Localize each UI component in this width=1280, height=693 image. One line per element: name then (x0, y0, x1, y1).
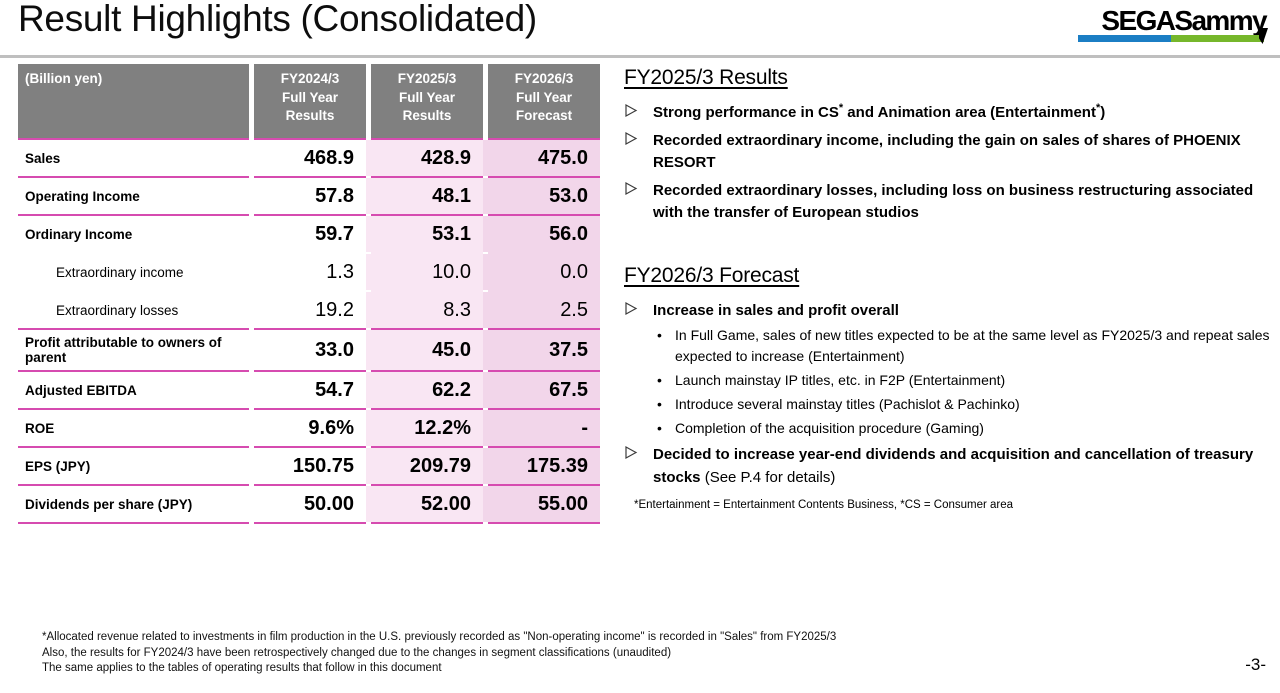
header-col-fy2026-year: FY2026/3 (488, 70, 600, 89)
logo-color-bar (1078, 35, 1264, 42)
separator-line (254, 522, 366, 524)
table-row: Extraordinary income1.310.00.0 (18, 254, 600, 290)
row-value: 37.5 (488, 330, 600, 370)
list-item: Recorded extraordinary income, including… (622, 130, 1270, 175)
forecast-sub-bullet-list: • In Full Game, sales of new titles expe… (653, 325, 1270, 439)
list-item: • Introduce several mainstay titles (Pac… (653, 394, 1270, 415)
forecast-bullet-list: Increase in sales and profit overall • I… (622, 300, 1270, 490)
table-row: Dividends per share (JPY)50.0052.0055.00 (18, 486, 600, 522)
row-value: 175.39 (488, 448, 600, 484)
table-row: ROE9.6%12.2%- (18, 410, 600, 446)
row-label: Dividends per share (JPY) (18, 486, 249, 522)
row-label: Extraordinary losses (18, 292, 249, 328)
footnote-2: Also, the results for FY2024/3 have been… (42, 646, 836, 662)
separator-line (371, 522, 483, 524)
row-value: 45.0 (371, 330, 483, 370)
footnotes: *Allocated revenue related to investment… (42, 630, 836, 677)
section-gap (622, 230, 1270, 264)
footnote-3: The same applies to the tables of operat… (42, 661, 836, 677)
row-value: 1.3 (254, 254, 366, 290)
row-value: 2.5 (488, 292, 600, 328)
header-unit-label: (Billion yen) (18, 64, 249, 138)
list-item: • In Full Game, sales of new titles expe… (653, 325, 1270, 367)
arrow-bullet-icon (624, 301, 639, 316)
table-row: Profit attributable to owners of parent3… (18, 330, 600, 370)
list-item: Strong performance in CS* and Animation … (622, 102, 1270, 125)
table-row: Adjusted EBITDA54.762.267.5 (18, 372, 600, 408)
row-value: 150.75 (254, 448, 366, 484)
forecast-sub-4-text: Completion of the acquisition procedure … (675, 420, 984, 436)
header-col-fy2026-line2: Full Year (488, 89, 600, 108)
page-title: Result Highlights (Consolidated) (18, 0, 537, 40)
row-value: 12.2% (371, 410, 483, 446)
header-col-fy2025-line2: Full Year (371, 89, 483, 108)
list-item: Increase in sales and profit overall • I… (622, 300, 1270, 440)
row-value: 468.9 (254, 140, 366, 176)
row-value: 48.1 (371, 178, 483, 214)
row-value: 209.79 (371, 448, 483, 484)
header-col-fy2024-line3: Results (254, 107, 366, 126)
row-label: ROE (18, 410, 249, 446)
footnote-1: *Allocated revenue related to investment… (42, 630, 836, 646)
title-divider (0, 55, 1280, 58)
sega-sammy-logo: SEGASammy (1066, 8, 1266, 48)
row-label: EPS (JPY) (18, 448, 249, 484)
list-item: • Completion of the acquisition procedur… (653, 418, 1270, 439)
results-section-heading: FY2025/3 Results (624, 66, 1270, 90)
page-number: -3- (1245, 655, 1266, 675)
table-row-separator (18, 522, 600, 524)
table-row: Extraordinary losses19.28.32.5 (18, 292, 600, 328)
row-value: 67.5 (488, 372, 600, 408)
row-label: Profit attributable to owners of parent (18, 330, 249, 370)
header-col-fy2024: FY2024/3 Full Year Results (254, 64, 366, 138)
separator-line (488, 522, 600, 524)
row-label: Adjusted EBITDA (18, 372, 249, 408)
table-header-row: (Billion yen) FY2024/3 Full Year Results… (18, 64, 600, 138)
row-value: 54.7 (254, 372, 366, 408)
row-value: 53.1 (371, 216, 483, 252)
separator-line (18, 522, 249, 524)
forecast-bullet-1-text: Increase in sales and profit overall (653, 302, 899, 319)
arrow-bullet-icon (624, 181, 639, 196)
header-col-fy2026: FY2026/3 Full Year Forecast (488, 64, 600, 138)
row-label: Extraordinary income (18, 254, 249, 290)
header-col-fy2024-line2: Full Year (254, 89, 366, 108)
list-item: Decided to increase year-end dividends a… (622, 444, 1270, 489)
list-item: • Launch mainstay IP titles, etc. in F2P… (653, 370, 1270, 391)
logo-wordmark: SEGASammy (1066, 5, 1266, 37)
row-value: - (488, 410, 600, 446)
arrow-bullet-icon (624, 103, 639, 118)
row-label: Ordinary Income (18, 216, 249, 252)
dot-bullet-icon: • (657, 325, 662, 346)
forecast-sub-3-text: Introduce several mainstay titles (Pachi… (675, 396, 1020, 412)
forecast-sub-2-text: Launch mainstay IP titles, etc. in F2P (… (675, 372, 1005, 388)
row-label: Sales (18, 140, 249, 176)
header-col-fy2025-year: FY2025/3 (371, 70, 483, 89)
forecast-sub-1-text: In Full Game, sales of new titles expect… (675, 327, 1270, 364)
header-col-fy2025: FY2025/3 Full Year Results (371, 64, 483, 138)
highlights-text-panel: FY2025/3 Results Strong performance in C… (622, 66, 1270, 513)
forecast-bullet-2-reference: (See P.4 for details) (705, 469, 836, 486)
table-row: EPS (JPY)150.75209.79175.39 (18, 448, 600, 484)
dot-bullet-icon: • (657, 394, 662, 415)
forecast-section-heading: FY2026/3 Forecast (624, 264, 1270, 288)
row-value: 0.0 (488, 254, 600, 290)
definition-note: *Entertainment = Entertainment Contents … (634, 498, 1270, 513)
row-value: 52.00 (371, 486, 483, 522)
row-value: 59.7 (254, 216, 366, 252)
table-row: Ordinary Income59.753.156.0 (18, 216, 600, 252)
row-value: 55.00 (488, 486, 600, 522)
row-value: 475.0 (488, 140, 600, 176)
row-value: 10.0 (371, 254, 483, 290)
results-bullet-3-text: Recorded extraordinary losses, including… (653, 182, 1253, 222)
row-value: 9.6% (254, 410, 366, 446)
dot-bullet-icon: • (657, 418, 662, 439)
row-value: 56.0 (488, 216, 600, 252)
arrow-bullet-icon (624, 131, 639, 146)
table-row: Operating Income57.848.153.0 (18, 178, 600, 214)
arrow-bullet-icon (624, 445, 639, 460)
results-bullet-list: Strong performance in CS* and Animation … (622, 102, 1270, 225)
row-value: 8.3 (371, 292, 483, 328)
table-row: Sales468.9428.9475.0 (18, 140, 600, 176)
dot-bullet-icon: • (657, 370, 662, 391)
list-item: Recorded extraordinary losses, including… (622, 180, 1270, 225)
header-col-fy2025-line3: Results (371, 107, 483, 126)
row-value: 57.8 (254, 178, 366, 214)
header-col-fy2024-year: FY2024/3 (254, 70, 366, 89)
financial-highlights-table: (Billion yen) FY2024/3 Full Year Results… (18, 64, 585, 524)
row-value: 19.2 (254, 292, 366, 328)
row-value: 428.9 (371, 140, 483, 176)
results-bullet-1-text: Strong performance in CS* and Animation … (653, 104, 1105, 121)
row-value: 53.0 (488, 178, 600, 214)
row-value: 33.0 (254, 330, 366, 370)
row-value: 62.2 (371, 372, 483, 408)
header-col-fy2026-line3: Forecast (488, 107, 600, 126)
results-bullet-2-text: Recorded extraordinary income, including… (653, 132, 1241, 172)
row-label: Operating Income (18, 178, 249, 214)
row-value: 50.00 (254, 486, 366, 522)
